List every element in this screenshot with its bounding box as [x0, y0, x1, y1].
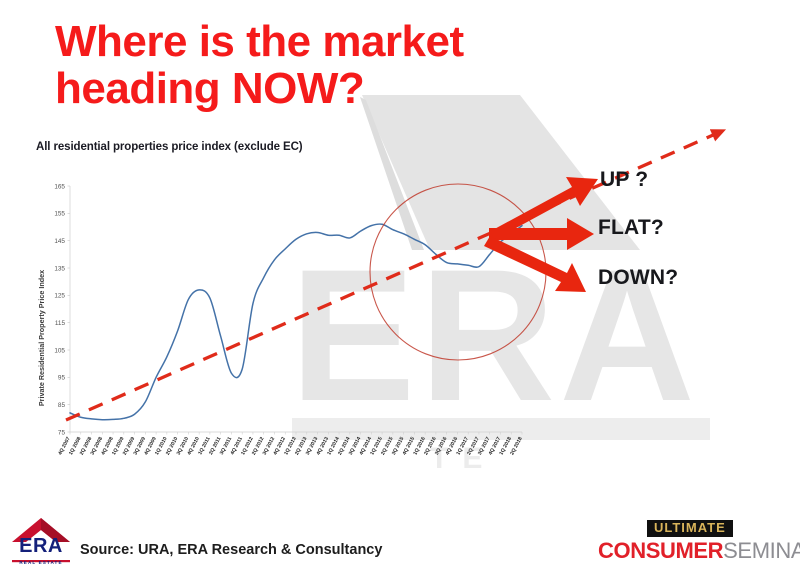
era-logo-subtitle: REAL ESTATE	[10, 560, 72, 565]
seminar-logo-ultimate: ULTIMATE	[647, 520, 733, 537]
scenario-label-down: DOWN?	[598, 266, 678, 290]
seminar-logo-consumer: CONSUMER	[598, 538, 723, 563]
scenario-label-up: UP ?	[600, 168, 648, 192]
seminar-logo-line: CONSUMERSEMINAR	[598, 539, 800, 562]
highlight-circle	[370, 184, 546, 360]
source-credit: Source: URA, ERA Research & Consultancy	[80, 542, 382, 558]
annotation-overlay	[0, 0, 800, 585]
seminar-logo-seminar: SEMINAR	[723, 538, 800, 563]
era-logo-wordmark: ERA	[10, 536, 72, 556]
scenario-label-flat: FLAT?	[598, 216, 664, 240]
